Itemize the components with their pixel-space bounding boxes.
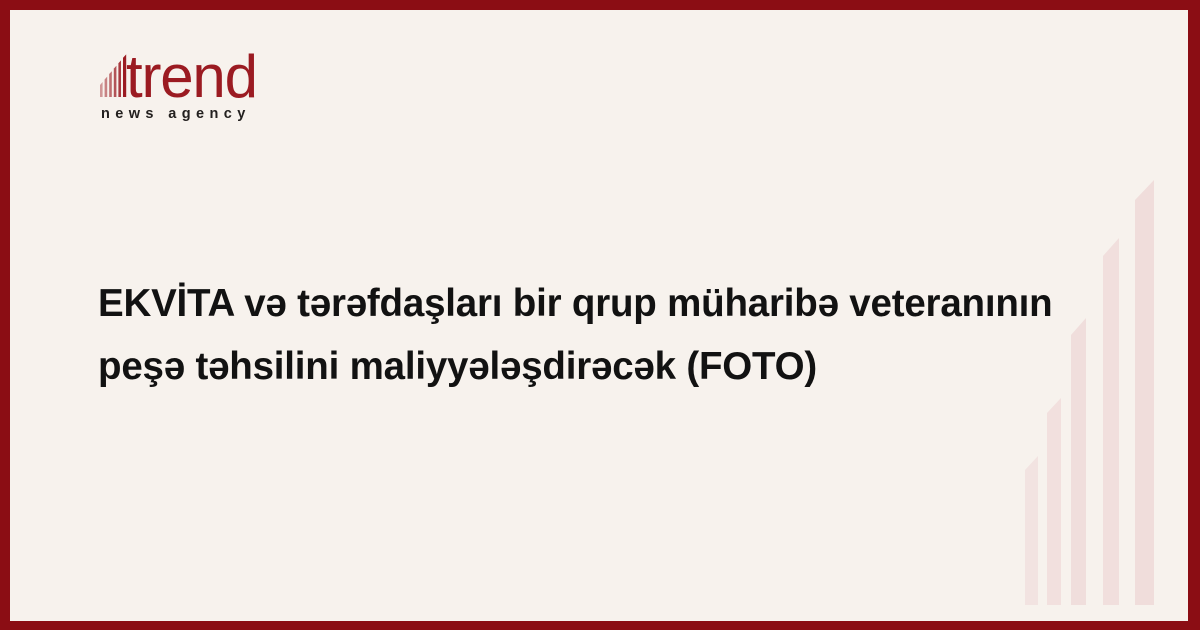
headline-line-2: peşə təhsilini maliyyələşdirəcək (FOTO) — [98, 335, 1058, 398]
trend-news-agency-logo[interactable]: trend news agency — [98, 45, 398, 140]
logo-wordmark: trend — [98, 45, 358, 107]
headline-line-1: EKVİTA və tərəfdaşları bir qrup müharibə… — [98, 272, 1058, 335]
news-share-card: trend news agency EKVİTA və tərəfdaşları… — [0, 0, 1200, 630]
ascending-bars-mark-icon — [100, 54, 126, 97]
headline: EKVİTA və tərəfdaşları bir qrup müharibə… — [98, 272, 1058, 398]
svg-text:trend: trend — [126, 45, 257, 107]
logo-tagline: news agency — [101, 106, 251, 122]
